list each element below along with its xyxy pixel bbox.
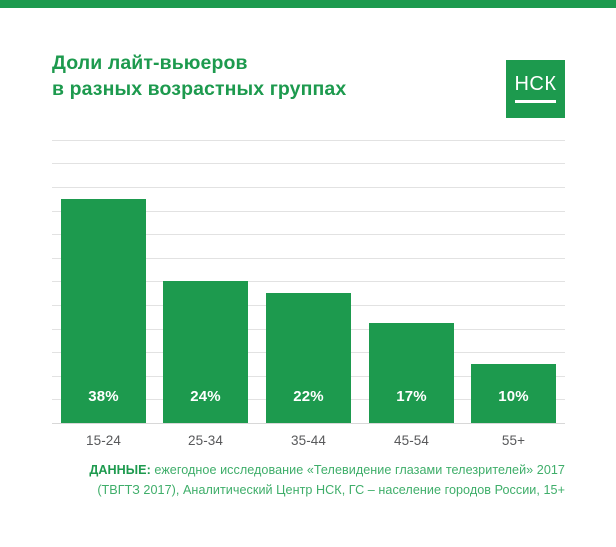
- source-note-text: ежегодное исследование «Телевидение глаз…: [97, 463, 565, 497]
- gridline: [52, 163, 565, 164]
- bar-value-label: 24%: [163, 388, 248, 405]
- bar-value-label: 17%: [369, 388, 454, 405]
- bar-45-54: [369, 323, 454, 423]
- source-note-label: ДАННЫЕ:: [89, 463, 151, 477]
- bar-value-label: 22%: [266, 388, 351, 405]
- bar-value-label: 38%: [61, 388, 146, 405]
- bar-value-label: 10%: [471, 388, 556, 405]
- gridline: [52, 140, 565, 141]
- axis-baseline: [52, 423, 565, 424]
- chart-page: Доли лайт-вьюеров в разных возрастных гр…: [0, 0, 616, 547]
- category-label-55+: 55+: [451, 433, 576, 448]
- gridline: [52, 187, 565, 188]
- source-note: ДАННЫЕ: ежегодное исследование «Телевиде…: [52, 461, 565, 500]
